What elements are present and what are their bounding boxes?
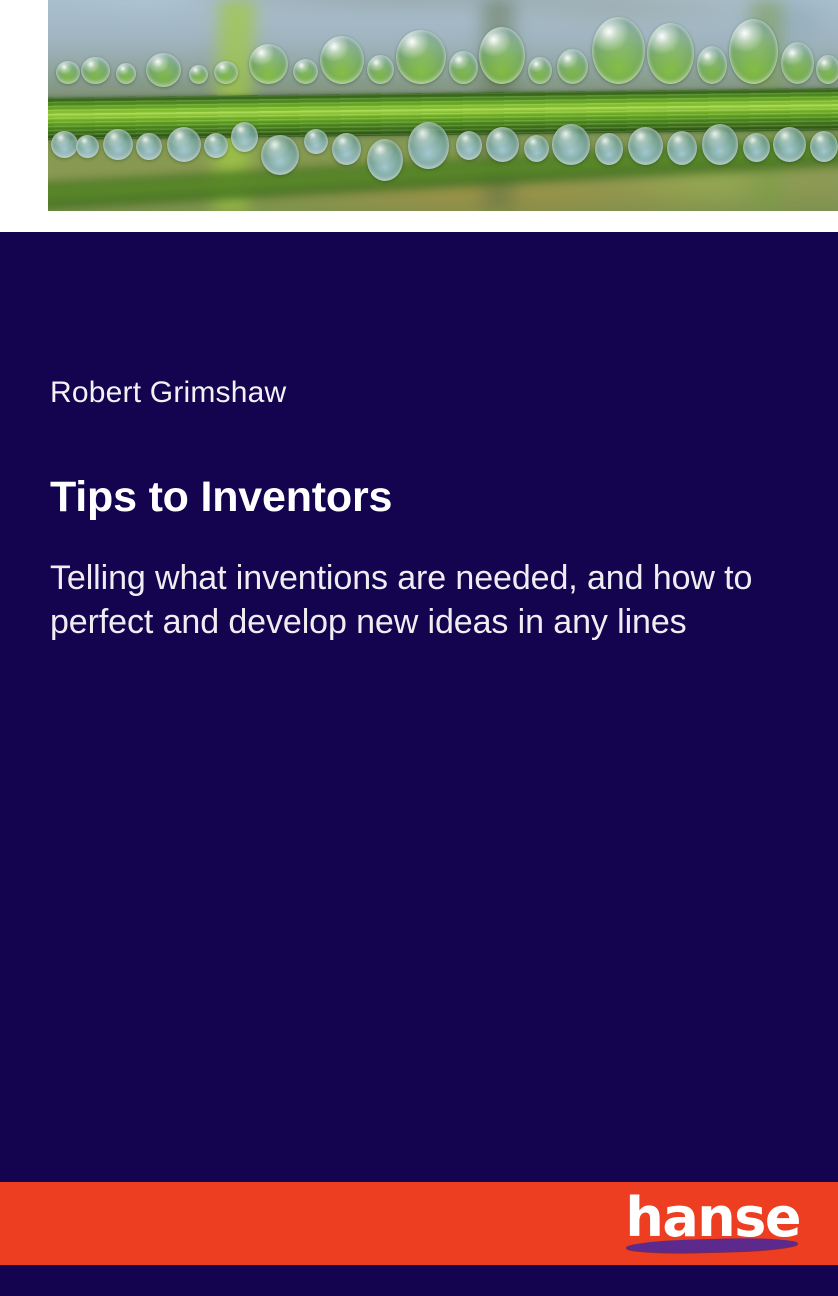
water-droplet [189, 65, 208, 84]
water-droplet [524, 135, 549, 162]
dew-drops-photo [48, 0, 838, 211]
book-title: Tips to Inventors [50, 474, 790, 521]
cover-text-block: Robert Grimshaw Tips to Inventors Tellin… [50, 376, 790, 644]
water-droplet [628, 127, 663, 165]
water-droplet [332, 133, 360, 165]
water-droplet [136, 133, 161, 160]
water-droplet [304, 129, 328, 154]
author-name: Robert Grimshaw [50, 376, 790, 409]
publisher-name: hanse [625, 1190, 800, 1246]
cover-main-area: Robert Grimshaw Tips to Inventors Tellin… [0, 232, 838, 1296]
water-droplet [146, 53, 181, 87]
book-cover: Robert Grimshaw Tips to Inventors Tellin… [0, 0, 838, 1296]
water-droplet [56, 61, 80, 84]
water-droplet [592, 17, 646, 85]
water-droplet [214, 61, 238, 84]
water-droplet [729, 19, 778, 84]
water-droplet [552, 124, 590, 164]
water-droplet [595, 133, 623, 165]
water-droplet [702, 124, 738, 164]
water-droplet [396, 30, 447, 85]
water-droplet [320, 36, 364, 85]
water-droplet [231, 122, 258, 152]
water-droplet [408, 122, 449, 168]
hanse-logo: hanse [620, 1190, 800, 1260]
water-droplet [486, 127, 519, 163]
water-droplet [81, 57, 109, 84]
water-droplet [76, 135, 98, 158]
book-subtitle: Telling what inventions are needed, and … [50, 557, 790, 644]
water-droplet [449, 51, 477, 85]
cover-photo-band [0, 0, 838, 232]
water-droplet [51, 131, 78, 158]
water-droplet [816, 55, 838, 85]
water-droplet [667, 131, 697, 165]
